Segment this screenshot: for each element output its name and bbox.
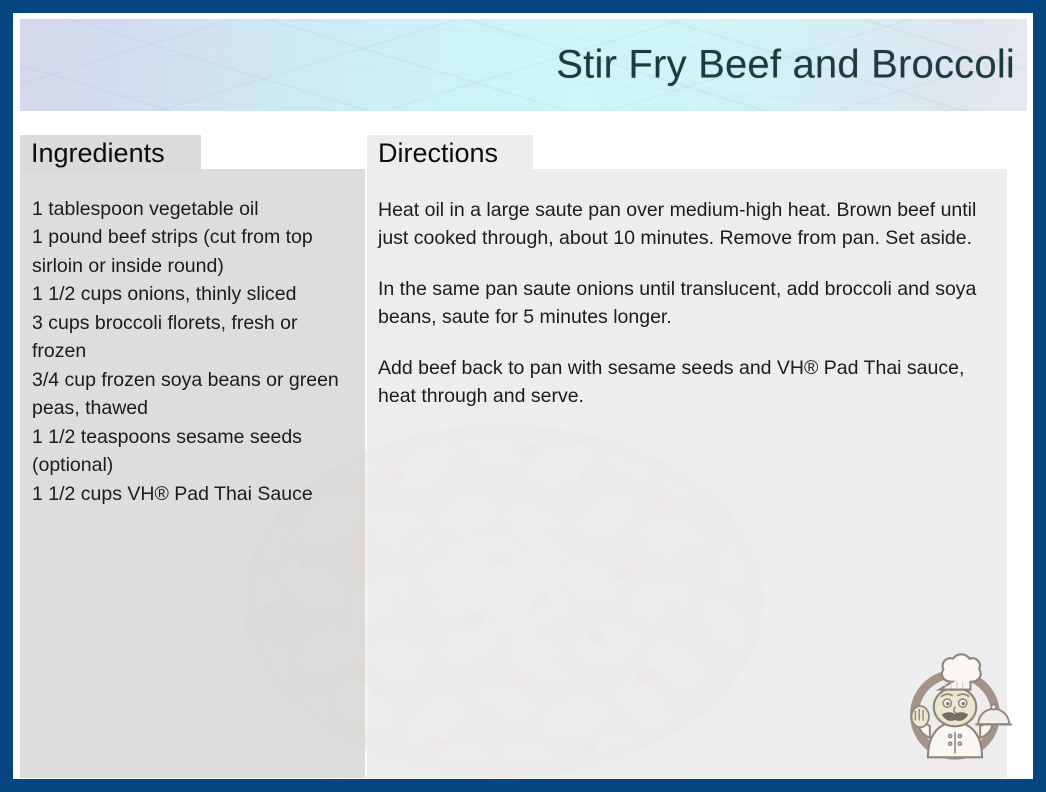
list-item: 3/4 cup frozen soya beans or green peas,… <box>32 366 357 423</box>
page-title: Stir Fry Beef and Broccoli <box>556 43 1015 88</box>
ingredients-panel: 1 tablespoon vegetable oil 1 pound beef … <box>20 169 365 778</box>
list-item: 1 1/2 teaspoons sesame seeds (optional) <box>32 423 357 480</box>
tab-ingredients[interactable]: Ingredients <box>20 135 201 172</box>
ingredients-list: 1 tablespoon vegetable oil 1 pound beef … <box>32 195 357 508</box>
tab-directions[interactable]: Directions <box>367 135 533 172</box>
list-item: 1 1/2 cups VH® Pad Thai Sauce <box>32 480 357 508</box>
list-item: 1 tablespoon vegetable oil <box>32 195 357 223</box>
slide-border-right <box>1033 0 1046 792</box>
recipe-slide: Stir Fry Beef and Broccoli Ingredients 1… <box>0 0 1046 792</box>
tab-ingredients-label: Ingredients <box>31 137 165 168</box>
direction-step: Add beef back to pan with sesame seeds a… <box>378 354 993 411</box>
content-panels: Ingredients 1 tablespoon vegetable oil 1… <box>13 13 1033 779</box>
direction-step: In the same pan saute onions until trans… <box>378 275 993 332</box>
direction-step: Heat oil in a large saute pan over mediu… <box>378 196 993 253</box>
tab-directions-label: Directions <box>378 137 498 168</box>
title-banner: Stir Fry Beef and Broccoli <box>20 19 1027 111</box>
slide-border-top <box>0 0 1046 13</box>
chef-mascot-logo <box>897 649 1013 765</box>
list-item: 1 pound beef strips (cut from top sirloi… <box>32 223 357 280</box>
slide-border-bottom <box>0 779 1046 792</box>
list-item: 1 1/2 cups onions, thinly sliced <box>32 280 357 308</box>
directions-text: Heat oil in a large saute pan over mediu… <box>378 196 993 411</box>
list-item: 3 cups broccoli florets, fresh or frozen <box>32 309 357 366</box>
slide-page: Stir Fry Beef and Broccoli Ingredients 1… <box>13 13 1033 779</box>
slide-border-left <box>0 0 13 792</box>
